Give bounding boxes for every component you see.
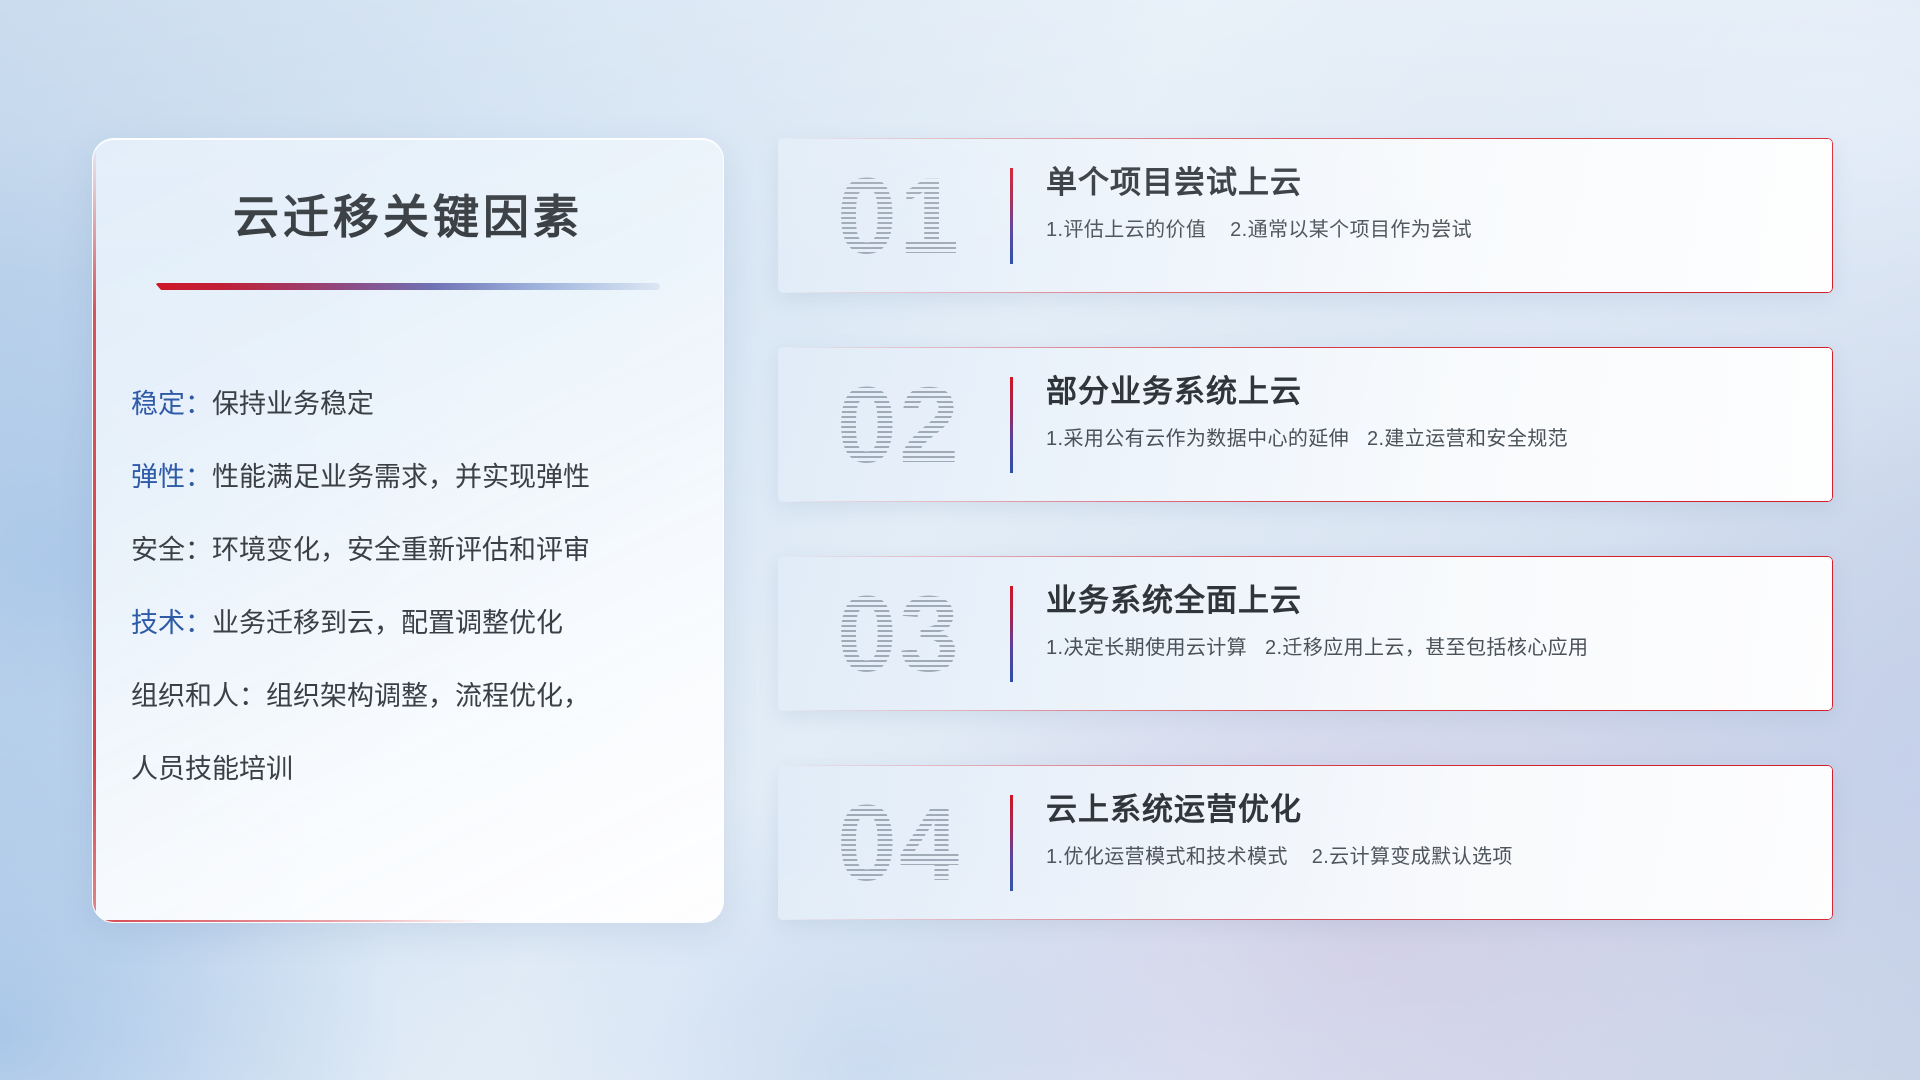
- factor-row: 组织和人：组织架构调整，流程优化，: [131, 683, 693, 710]
- step-divider: [1010, 377, 1013, 473]
- factor-label: 技术：: [131, 608, 212, 638]
- step-title: 云上系统运营优化: [1046, 791, 1803, 830]
- step-number: 03: [804, 575, 994, 693]
- factor-label: 稳定：: [131, 389, 212, 419]
- step-number: 04: [804, 784, 994, 902]
- step-number: 01: [804, 157, 994, 275]
- step-divider: [1010, 168, 1013, 264]
- step-divider: [1010, 586, 1013, 682]
- step-title: 业务系统全面上云: [1046, 582, 1803, 621]
- factor-row: 稳定：保持业务稳定: [131, 391, 693, 418]
- key-factors-panel: 云迁移关键因素 稳定：保持业务稳定弹性：性能满足业务需求，并实现弹性安全：环境变…: [92, 138, 724, 923]
- step-description: 1.优化运营模式和技术模式 2.云计算变成默认选项: [1046, 844, 1803, 870]
- step-body: 云上系统运营优化1.优化运营模式和技术模式 2.云计算变成默认选项: [1046, 791, 1803, 870]
- step-description: 1.采用公有云作为数据中心的延伸 2.建立运营和安全规范: [1046, 426, 1803, 452]
- step-body: 单个项目尝试上云1.评估上云的价值 2.通常以某个项目作为尝试: [1046, 164, 1803, 243]
- factor-value: 业务迁移到云，配置调整优化: [212, 608, 563, 638]
- step-title: 部分业务系统上云: [1046, 373, 1803, 412]
- slide-canvas: 云迁移关键因素 稳定：保持业务稳定弹性：性能满足业务需求，并实现弹性安全：环境变…: [0, 0, 1920, 1080]
- factor-row: 安全：环境变化，安全重新评估和评审: [131, 537, 693, 564]
- factor-row: 技术：业务迁移到云，配置调整优化: [131, 610, 693, 637]
- factor-value: 人员技能培训: [131, 754, 293, 784]
- title-underline-rule: [155, 283, 660, 290]
- step-card[interactable]: 04云上系统运营优化1.优化运营模式和技术模式 2.云计算变成默认选项: [778, 765, 1833, 920]
- factor-row: 人员技能培训: [131, 756, 693, 783]
- step-divider: [1010, 795, 1013, 891]
- factor-row: 弹性：性能满足业务需求，并实现弹性: [131, 464, 693, 491]
- factor-value: 保持业务稳定: [212, 389, 374, 419]
- factor-list: 稳定：保持业务稳定弹性：性能满足业务需求，并实现弹性安全：环境变化，安全重新评估…: [131, 391, 693, 783]
- step-card[interactable]: 02部分业务系统上云1.采用公有云作为数据中心的延伸 2.建立运营和安全规范: [778, 347, 1833, 502]
- factor-label: 安全：: [131, 535, 212, 565]
- factor-label: 弹性：: [131, 462, 212, 492]
- step-title: 单个项目尝试上云: [1046, 164, 1803, 203]
- factor-label: 组织和人：: [131, 681, 266, 711]
- step-body: 部分业务系统上云1.采用公有云作为数据中心的延伸 2.建立运营和安全规范: [1046, 373, 1803, 452]
- step-description: 1.决定长期使用云计算 2.迁移应用上云，甚至包括核心应用: [1046, 635, 1803, 661]
- step-number: 02: [804, 366, 994, 484]
- factor-value: 性能满足业务需求，并实现弹性: [212, 462, 590, 492]
- step-card[interactable]: 01单个项目尝试上云1.评估上云的价值 2.通常以某个项目作为尝试: [778, 138, 1833, 293]
- step-card[interactable]: 03业务系统全面上云1.决定长期使用云计算 2.迁移应用上云，甚至包括核心应用: [778, 556, 1833, 711]
- step-body: 业务系统全面上云1.决定长期使用云计算 2.迁移应用上云，甚至包括核心应用: [1046, 582, 1803, 661]
- factor-value: 组织架构调整，流程优化，: [266, 681, 590, 711]
- page-title: 云迁移关键因素: [93, 181, 723, 247]
- step-description: 1.评估上云的价值 2.通常以某个项目作为尝试: [1046, 217, 1803, 243]
- migration-steps-list: 01单个项目尝试上云1.评估上云的价值 2.通常以某个项目作为尝试02部分业务系…: [778, 138, 1833, 923]
- factor-value: 环境变化，安全重新评估和评审: [212, 535, 590, 565]
